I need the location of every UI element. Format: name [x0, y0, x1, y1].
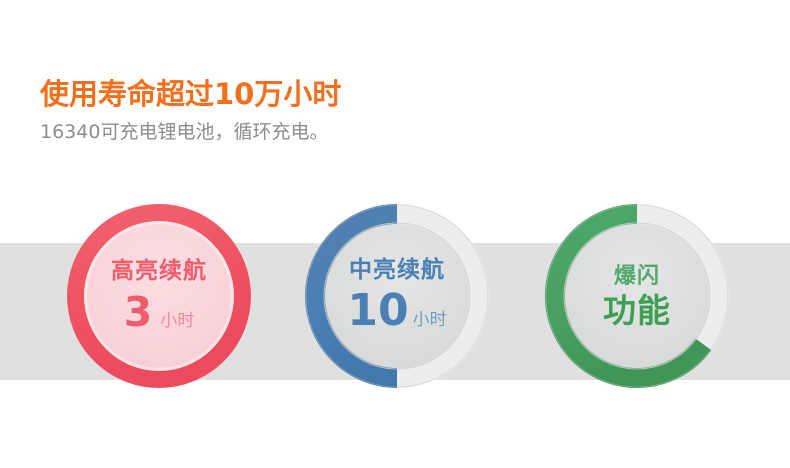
dial-high-brightness-hub: 高亮续航 3 小时 — [87, 224, 231, 368]
dial-medium-brightness-label: 中亮续航 — [349, 259, 445, 282]
header-block: 使用寿命超过10万小时 16340可充电锂电池，循环充电。 — [40, 78, 640, 145]
dial-high-brightness-label: 高亮续航 — [111, 260, 207, 283]
page-subtitle: 16340可充电锂电池，循环充电。 — [40, 121, 640, 145]
dial-strobe-function-hub: 爆闪 功能 — [565, 224, 709, 368]
dial-medium-brightness-hub: 中亮续航 10 小时 — [325, 224, 469, 368]
dial-strobe-function[interactable]: 爆闪 功能 — [541, 200, 733, 392]
dial-strobe-function-value-row: 功能 — [603, 294, 671, 327]
dial-strobe-function-label: 爆闪 — [614, 266, 660, 288]
dial-group: 高亮续航 3 小时 — [0, 0, 790, 468]
dial-strobe-function-value: 功能 — [603, 294, 671, 327]
dial-high-brightness-value: 3 — [124, 292, 153, 333]
dial-medium-brightness-value: 10 — [347, 289, 408, 333]
dial-medium-brightness[interactable]: 中亮续航 10 小时 — [301, 200, 493, 392]
dial-high-brightness-value-row: 3 小时 — [124, 292, 195, 333]
dial-high-brightness-unit: 小时 — [160, 313, 194, 330]
dial-medium-brightness-value-row: 10 小时 — [347, 289, 446, 333]
dial-high-brightness[interactable]: 高亮续航 3 小时 — [63, 200, 255, 392]
page-title: 使用寿命超过10万小时 — [40, 78, 640, 111]
infographic-canvas: 使用寿命超过10万小时 16340可充电锂电池，循环充电。 高亮续航 — [0, 0, 790, 468]
dial-medium-brightness-unit: 小时 — [413, 312, 447, 329]
